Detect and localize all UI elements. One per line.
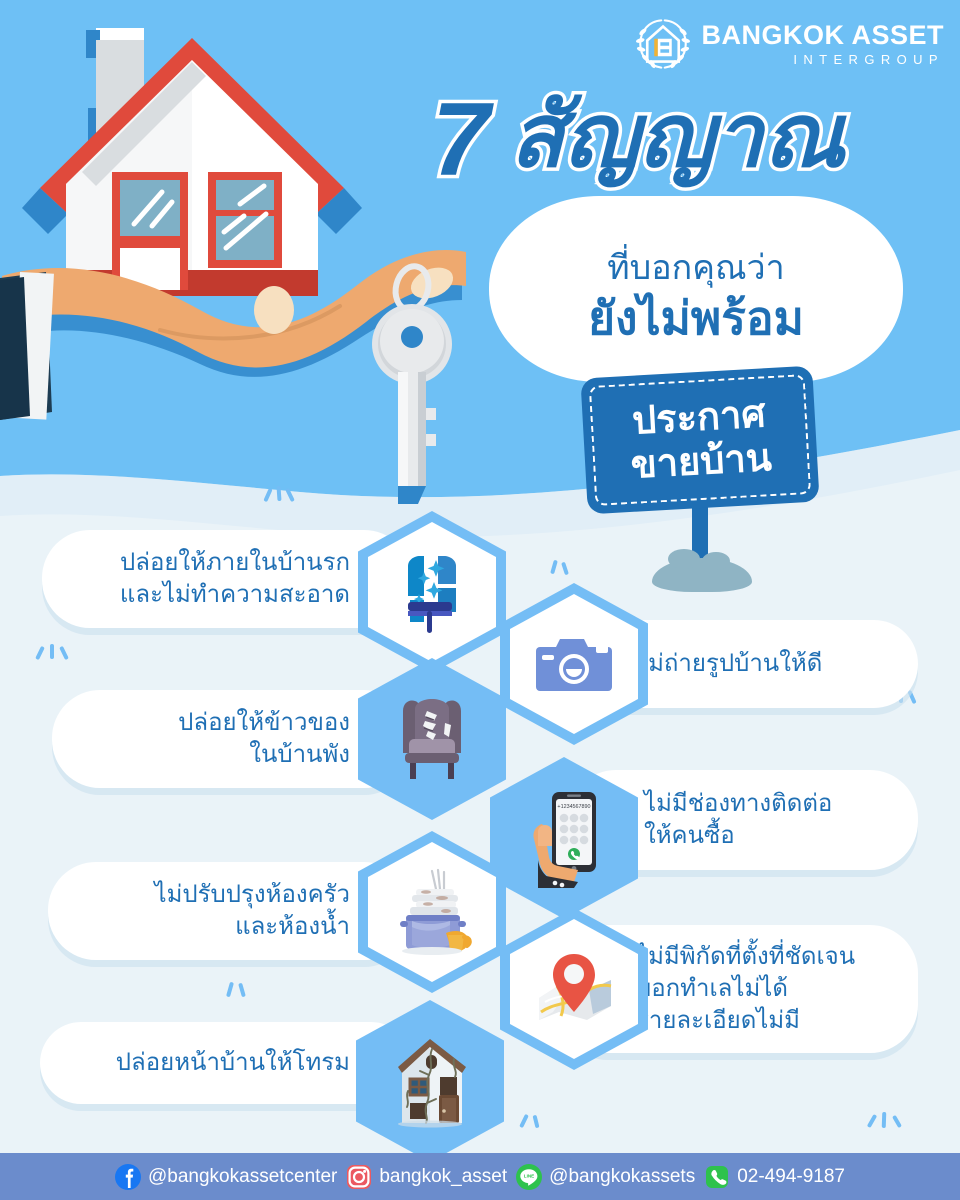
item-4-text: ไม่มีช่องทางติดต่อ ให้คนซื้อ <box>644 788 832 851</box>
item-1-pill: ปล่อยให้ภายในบ้านรก และไม่ทำความสะอาด <box>42 530 412 628</box>
phone-icon[interactable] <box>704 1164 730 1190</box>
item-7-text: ปล่อยหน้าบ้านให้โทรม <box>116 1047 350 1079</box>
footer-facebook[interactable]: @bangkokassetcenter <box>115 1164 337 1190</box>
dirty-dishes-icon <box>390 867 474 957</box>
item-3-text: ปล่อยให้ข้าวของ ในบ้านพัง <box>178 707 350 770</box>
house-in-hand-illustration <box>0 0 480 520</box>
footer-line-label: @bangkokassets <box>549 1166 695 1188</box>
cracked-house-icon <box>388 1033 472 1129</box>
item-1-text: ปล่อยให้ภายในบ้านรก และไม่ทำความสะอาด <box>120 547 350 610</box>
headline-bubble: ที่บอกคุณว่า ยังไม่พร้อม <box>489 196 903 382</box>
footer-instagram-label: bangkok_asset <box>379 1166 507 1188</box>
infographic-canvas: BANGKOK ASSET INTERGROUP 7 สัญญาณ ที่บอก… <box>0 0 960 1200</box>
item-5-text: ไม่ปรับปรุงห้องครัว และห้องน้ำ <box>155 879 350 942</box>
svg-text:+1234567890: +1234567890 <box>557 804 590 810</box>
sign-line-2: ขายบ้าน <box>630 436 773 488</box>
squeegee-cleaning-icon <box>394 550 470 634</box>
bubble-line-2: ยังไม่พร้อม <box>588 292 804 345</box>
facebook-icon[interactable] <box>115 1164 141 1190</box>
footer-facebook-label: @bangkokassetcenter <box>148 1166 337 1188</box>
item-2-text: ไม่ถ่ายรูปบ้านให้ดี <box>636 648 822 680</box>
bangkok-asset-emblem-icon <box>635 16 691 72</box>
svg-text:LINE: LINE <box>524 1173 534 1178</box>
logo-subtitle: INTERGROUP <box>701 53 944 66</box>
brand-logo: BANGKOK ASSET INTERGROUP <box>635 16 944 72</box>
instagram-icon[interactable] <box>346 1164 372 1190</box>
torn-armchair-icon <box>393 695 471 783</box>
footer-line[interactable]: LINE @bangkokassets <box>516 1164 695 1190</box>
bubble-line-1: ที่บอกคุณว่า <box>607 249 784 288</box>
logo-title: BANGKOK ASSET <box>701 22 944 49</box>
hand-holding-phone-icon: +1234567890 <box>522 788 606 888</box>
map-pin-icon <box>531 950 617 1028</box>
item-6-text: ไม่มีพิกัดที่ตั้งที่ชัดเจน บอกทำเลไม่ได้… <box>636 941 855 1036</box>
headline-word: สัญญาณ <box>510 92 845 180</box>
item-5-pill: ไม่ปรับปรุงห้องครัว และห้องน้ำ <box>48 862 412 960</box>
sign-line-1: ประกาศ <box>631 392 767 443</box>
camera-icon <box>534 633 614 695</box>
footer-phone-label: 02-494-9187 <box>737 1166 845 1188</box>
footer-contact-bar: @bangkokassetcenter bangkok_asset LINE @… <box>0 1153 960 1200</box>
footer-phone[interactable]: 02-494-9187 <box>704 1164 845 1190</box>
headline-number: 7 <box>432 88 490 192</box>
line-icon[interactable]: LINE <box>516 1164 542 1190</box>
for-sale-sign: ประกาศ ขายบ้าน <box>580 366 819 515</box>
footer-instagram[interactable]: bangkok_asset <box>346 1164 507 1190</box>
